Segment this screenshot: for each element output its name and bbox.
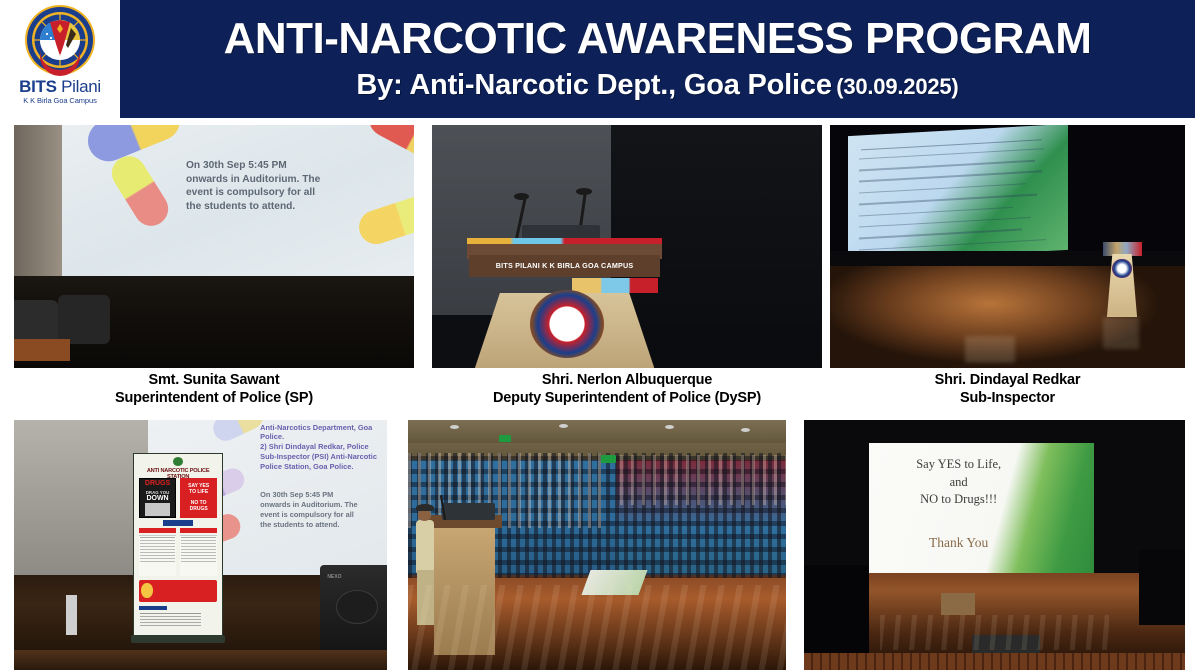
- loudspeaker: NEXO: [320, 565, 387, 655]
- slide-line-3: NO to Drugs!!!: [878, 492, 1040, 507]
- caption-photo-1: Smt. Sunita Sawant Superintendent of Pol…: [14, 372, 414, 407]
- logo-brand-light: Pilani: [57, 77, 101, 96]
- slide-line-2: and: [878, 475, 1040, 490]
- podium-label: BITS PILANI K K BIRLA GOA CAMPUS: [496, 261, 634, 270]
- page-title: ANTI-NARCOTIC AWARENESS PROGRAM: [224, 16, 1092, 62]
- standee-slogan-2: TO LIFE: [189, 490, 208, 496]
- caption-photo-2: Shri. Nerlon Albuquerque Deputy Superint…: [432, 372, 822, 407]
- photo-dysp-podium: BITS PILANI K K BIRLA GOA CAMPUS: [432, 125, 822, 368]
- podium-crest-icon: [530, 290, 604, 358]
- caption-rank-2: Deputy Superintendent of Police (DySP): [432, 390, 822, 408]
- photo-standee: Anti-Narcotics Department, Goa Police. 2…: [14, 420, 387, 670]
- projected-slide: [848, 125, 1068, 262]
- page-subtitle: By: Anti-Narcotic Dept., Goa Police: [356, 69, 831, 101]
- caption-rank-3: Sub-Inspector: [830, 390, 1185, 408]
- caption-name-3: Shri. Dindayal Redkar: [830, 372, 1185, 390]
- caption-name-1: Smt. Sunita Sawant: [14, 372, 414, 390]
- slide-thanks: Thank You: [882, 535, 1035, 551]
- photo-si-stage: [830, 125, 1185, 368]
- slide-text-photo4-block2: On 30th Sep 5:45 PM onwards in Auditoriu…: [260, 490, 387, 530]
- speaker-brand: NEXO: [327, 574, 353, 580]
- photo-thank-you: Say YES to Life, and NO to Drugs!!! Than…: [804, 420, 1185, 670]
- anti-narcotic-awareness-poster: भारतीय BITS Pilani K K Birla Goa Campus …: [0, 0, 1195, 672]
- standee-slogan-4: DRUGS: [190, 507, 208, 513]
- logo-brand-bold: BITS: [19, 77, 57, 96]
- header-text-block: ANTI-NARCOTIC AWARENESS PROGRAM By: Anti…: [120, 0, 1195, 118]
- subtitle-row: By: Anti-Narcotic Dept., Goa Police (30.…: [356, 69, 958, 102]
- event-date: (30.09.2025): [836, 74, 958, 99]
- slide-line-1: Say YES to Life,: [878, 457, 1040, 472]
- photo-sp-speaking: On 30th Sep 5:45 PM onwards in Auditoriu…: [14, 125, 414, 368]
- slide-text-photo4-block1: Anti-Narcotics Department, Goa Police. 2…: [260, 423, 387, 473]
- logo-campus-label: K K Birla Goa Campus: [23, 96, 96, 105]
- svg-text:भारतीय: भारतीय: [54, 53, 66, 58]
- logo-wordmark: BITS Pilani: [19, 78, 101, 95]
- closing-slide: Say YES to Life, and NO to Drugs!!! Than…: [869, 443, 1094, 573]
- header-band: भारतीय BITS Pilani K K Birla Goa Campus …: [0, 0, 1195, 118]
- caption-rank-1: Superintendent of Police (SP): [14, 390, 414, 408]
- photo-audience: [408, 420, 786, 670]
- anti-narcotic-standee: ANTI NARCOTIC POLICE STATION DRUGS DRAG …: [133, 453, 223, 641]
- slide-text-photo1: On 30th Sep 5:45 PM onwards in Auditoriu…: [186, 159, 406, 213]
- caption-photo-3: Shri. Dindayal Redkar Sub-Inspector: [830, 372, 1185, 407]
- caption-name-2: Shri. Nerlon Albuquerque: [432, 372, 822, 390]
- institute-logo: भारतीय BITS Pilani K K Birla Goa Campus: [0, 0, 120, 118]
- bits-pilani-crest-icon: भारतीय: [24, 4, 96, 76]
